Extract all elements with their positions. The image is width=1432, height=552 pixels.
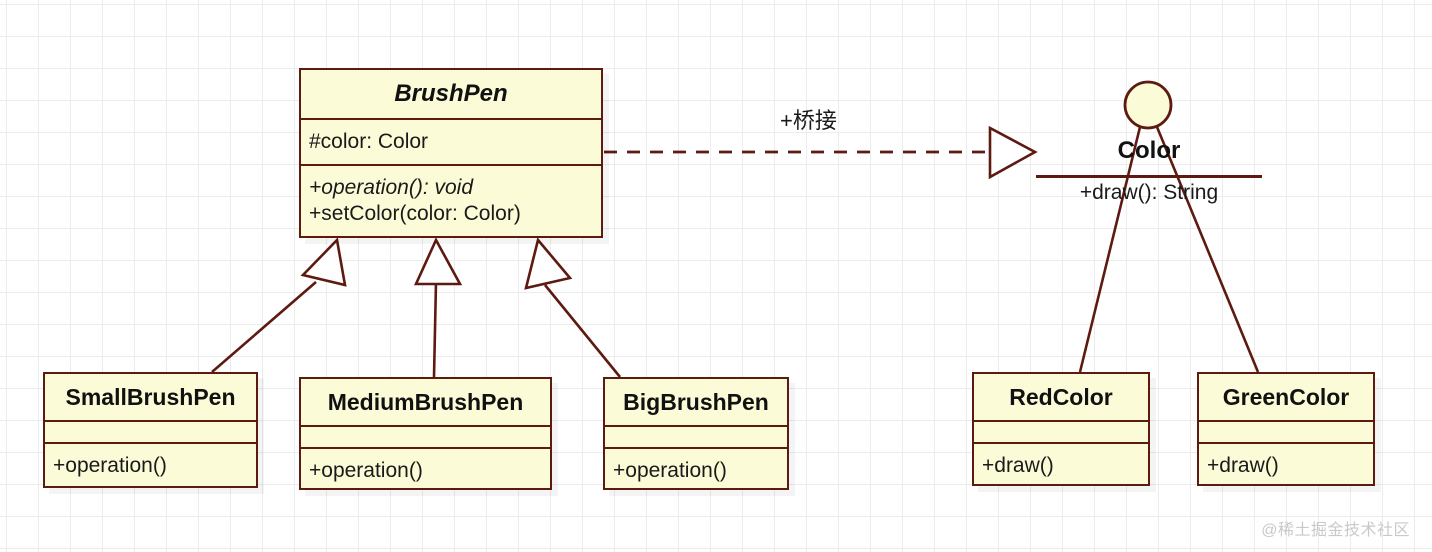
uml-class-brushpen[interactable]: BrushPen #color: Color +operation(): voi… <box>299 68 603 238</box>
generalization-arrowhead-mediumbrushpen <box>416 240 460 284</box>
class-operations-redcolor: +draw() <box>974 444 1148 488</box>
operation-row: +draw() <box>982 453 1140 479</box>
operation-row: +operation() <box>309 458 542 484</box>
class-name-mediumbrushpen: MediumBrushPen <box>301 379 550 425</box>
class-operations-brushpen: +operation(): void +setColor(color: Colo… <box>301 166 601 236</box>
class-attributes-smallbrushpen <box>45 422 256 442</box>
class-attributes-brushpen: #color: Color <box>301 120 601 164</box>
attribute-row: #color: Color <box>309 129 593 155</box>
interface-operation-draw: +draw(): String <box>1036 178 1262 208</box>
uml-interface-color[interactable]: Color +draw(): String <box>1036 134 1262 208</box>
class-attributes-mediumbrushpen <box>301 427 550 447</box>
generalization-line-mediumbrushpen <box>434 282 436 377</box>
uml-class-mediumbrushpen[interactable]: MediumBrushPen +operation() <box>299 377 552 490</box>
class-operations-smallbrushpen: +operation() <box>45 444 256 488</box>
class-attributes-greencolor <box>1199 422 1373 442</box>
class-attributes-redcolor <box>974 422 1148 442</box>
class-attributes-bigbrushpen <box>605 427 787 447</box>
class-operations-greencolor: +draw() <box>1199 444 1373 488</box>
class-name-redcolor: RedColor <box>974 374 1148 420</box>
uml-class-redcolor[interactable]: RedColor +draw() <box>972 372 1150 486</box>
operation-row: +operation() <box>53 453 248 479</box>
operation-row: +setColor(color: Color) <box>309 201 593 227</box>
class-name-brushpen: BrushPen <box>301 70 601 118</box>
watermark: @稀土掘金技术社区 <box>1261 516 1410 540</box>
generalization-line-bigbrushpen <box>545 285 620 377</box>
diagram-canvas: BrushPen #color: Color +operation(): voi… <box>0 0 1432 552</box>
class-operations-mediumbrushpen: +operation() <box>301 449 550 493</box>
generalization-arrowhead-smallbrushpen <box>303 240 345 285</box>
uml-class-bigbrushpen[interactable]: BigBrushPen +operation() <box>603 377 789 490</box>
class-operations-bigbrushpen: +operation() <box>605 449 787 493</box>
operation-row: +draw() <box>1207 453 1365 479</box>
class-name-bigbrushpen: BigBrushPen <box>605 379 787 425</box>
uml-class-greencolor[interactable]: GreenColor +draw() <box>1197 372 1375 486</box>
bridge-dependency-arrowhead <box>990 128 1035 177</box>
generalization-line-smallbrushpen <box>212 282 316 372</box>
operation-row: +operation() <box>613 458 779 484</box>
interface-ball-icon <box>1125 82 1171 128</box>
bridge-relation-label: +桥接 <box>780 103 837 135</box>
interface-name-color: Color <box>1036 134 1262 168</box>
class-name-greencolor: GreenColor <box>1199 374 1373 420</box>
class-name-smallbrushpen: SmallBrushPen <box>45 374 256 420</box>
operation-row: +operation(): void <box>309 175 593 201</box>
generalization-arrowhead-bigbrushpen <box>526 240 570 288</box>
uml-class-smallbrushpen[interactable]: SmallBrushPen +operation() <box>43 372 258 488</box>
